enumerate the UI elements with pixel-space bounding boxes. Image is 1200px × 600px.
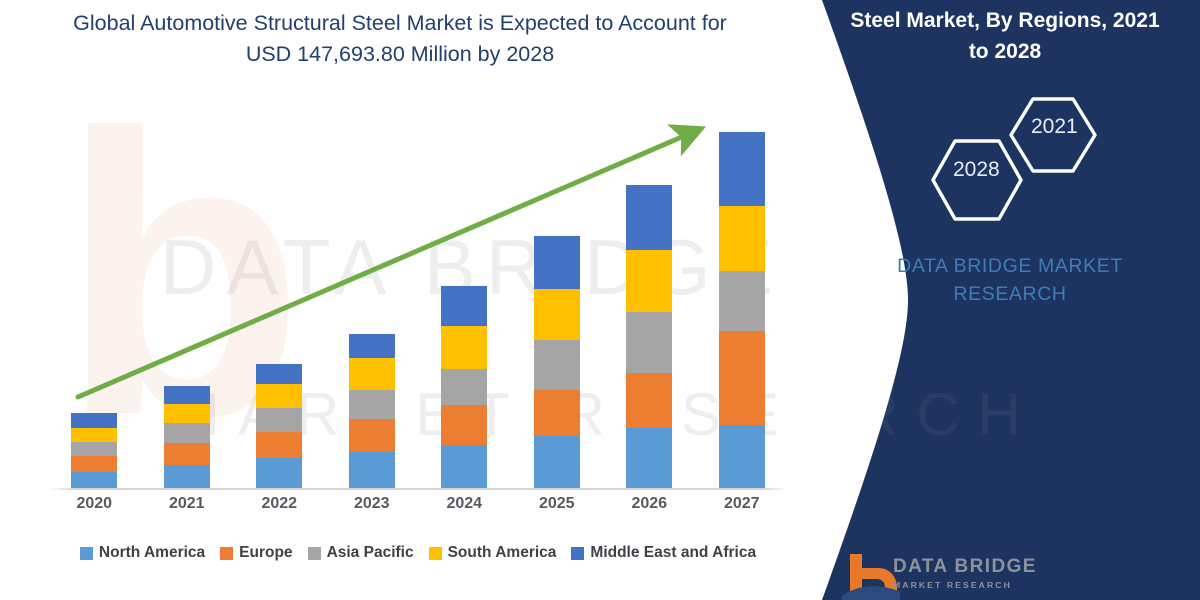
bar-segment xyxy=(719,331,765,425)
brand-name: DATA BRIDGE MARKET RESEARCH xyxy=(880,252,1140,308)
bar-segment xyxy=(441,286,487,326)
bar-segment xyxy=(164,386,210,404)
bar-segment xyxy=(349,358,395,390)
bar-2024[interactable] xyxy=(441,286,487,488)
legend-item[interactable]: South America xyxy=(429,544,557,562)
bar-segment xyxy=(349,390,395,419)
brand-line-1: DATA BRIDGE MARKET xyxy=(880,252,1140,280)
bar-segment xyxy=(71,472,117,488)
bar-segment xyxy=(256,384,302,408)
bar-segment xyxy=(441,326,487,369)
bar-segment xyxy=(349,334,395,358)
x-axis-tick-2027: 2027 xyxy=(696,495,788,513)
legend-label: Europe xyxy=(239,544,292,562)
bar-segment xyxy=(534,340,580,390)
legend-item[interactable]: Asia Pacific xyxy=(308,544,414,562)
bar-segment xyxy=(626,185,672,250)
bar-segment xyxy=(719,206,765,271)
x-axis-labels: 20202021202220232024202520262027 xyxy=(48,495,788,525)
legend-item[interactable]: Europe xyxy=(220,544,292,562)
bar-segment xyxy=(164,443,210,465)
legend-item[interactable]: Middle East and Africa xyxy=(571,544,756,562)
bar-segment xyxy=(71,428,117,442)
page-title: Global Automotive Structural Steel Marke… xyxy=(60,8,740,70)
bar-segment xyxy=(534,390,580,436)
bar-segment xyxy=(626,312,672,373)
bar-2025[interactable] xyxy=(534,236,580,488)
bar-segment xyxy=(256,364,302,384)
legend-label: North America xyxy=(99,544,205,562)
bar-segment xyxy=(534,289,580,340)
legend-swatch-icon xyxy=(308,547,321,560)
hexagon-label-2021: 2021 xyxy=(1031,115,1078,139)
bar-segment xyxy=(441,445,487,488)
x-axis-tick-2020: 2020 xyxy=(48,495,140,513)
legend-label: Asia Pacific xyxy=(327,544,414,562)
bar-segment xyxy=(256,458,302,488)
bar-2023[interactable] xyxy=(349,334,395,488)
logo-text: DATA BRIDGE xyxy=(893,556,1037,578)
chart-legend: North AmericaEuropeAsia PacificSouth Ame… xyxy=(48,540,788,566)
x-axis-tick-2026: 2026 xyxy=(603,495,695,513)
infographic-canvas: b DATA BRIDGE MARKET RESEARCH Global Aut… xyxy=(0,0,1200,600)
bar-2027[interactable] xyxy=(719,132,765,488)
bar-segment xyxy=(441,405,487,445)
bar-segment xyxy=(256,432,302,458)
legend-swatch-icon xyxy=(80,547,93,560)
bar-segment xyxy=(349,452,395,488)
hexagon-outline-icon xyxy=(915,95,1115,225)
bar-segment xyxy=(441,369,487,405)
stacked-bar-chart xyxy=(48,110,788,488)
bar-2026[interactable] xyxy=(626,185,672,488)
bar-segment xyxy=(534,236,580,289)
legend-item[interactable]: North America xyxy=(80,544,205,562)
bar-2021[interactable] xyxy=(164,386,210,488)
bar-segment xyxy=(719,132,765,206)
legend-swatch-icon xyxy=(571,547,584,560)
bar-segment xyxy=(256,408,302,432)
bar-segment xyxy=(71,442,117,456)
brand-line-2: RESEARCH xyxy=(880,280,1140,308)
bar-segment xyxy=(719,425,765,488)
hexagon-label-2028: 2028 xyxy=(953,158,1000,182)
x-axis-tick-2024: 2024 xyxy=(418,495,510,513)
bar-segment xyxy=(164,465,210,488)
bar-segment xyxy=(534,436,580,488)
x-axis-tick-2022: 2022 xyxy=(233,495,325,513)
bar-segment xyxy=(349,419,395,452)
legend-label: Middle East and Africa xyxy=(590,544,756,562)
bar-segment xyxy=(164,423,210,443)
logo-subtext: MARKET RESEARCH xyxy=(893,580,1012,590)
x-axis-line xyxy=(48,488,788,490)
panel-title: Steel Market, By Regions, 2021 to 2028 xyxy=(845,5,1165,67)
bar-segment xyxy=(626,250,672,312)
hexagon-badges: 2021 2028 xyxy=(915,95,1115,225)
bar-segment xyxy=(719,271,765,331)
bar-segment xyxy=(71,456,117,472)
bar-segment xyxy=(71,413,117,428)
x-axis-tick-2025: 2025 xyxy=(511,495,603,513)
x-axis-tick-2023: 2023 xyxy=(326,495,418,513)
x-axis-tick-2021: 2021 xyxy=(141,495,233,513)
legend-label: South America xyxy=(448,544,557,562)
legend-swatch-icon xyxy=(220,547,233,560)
bar-2022[interactable] xyxy=(256,364,302,488)
bar-segment xyxy=(626,373,672,428)
bar-segment xyxy=(164,404,210,423)
legend-swatch-icon xyxy=(429,547,442,560)
bar-segment xyxy=(626,428,672,488)
bar-2020[interactable] xyxy=(71,413,117,488)
